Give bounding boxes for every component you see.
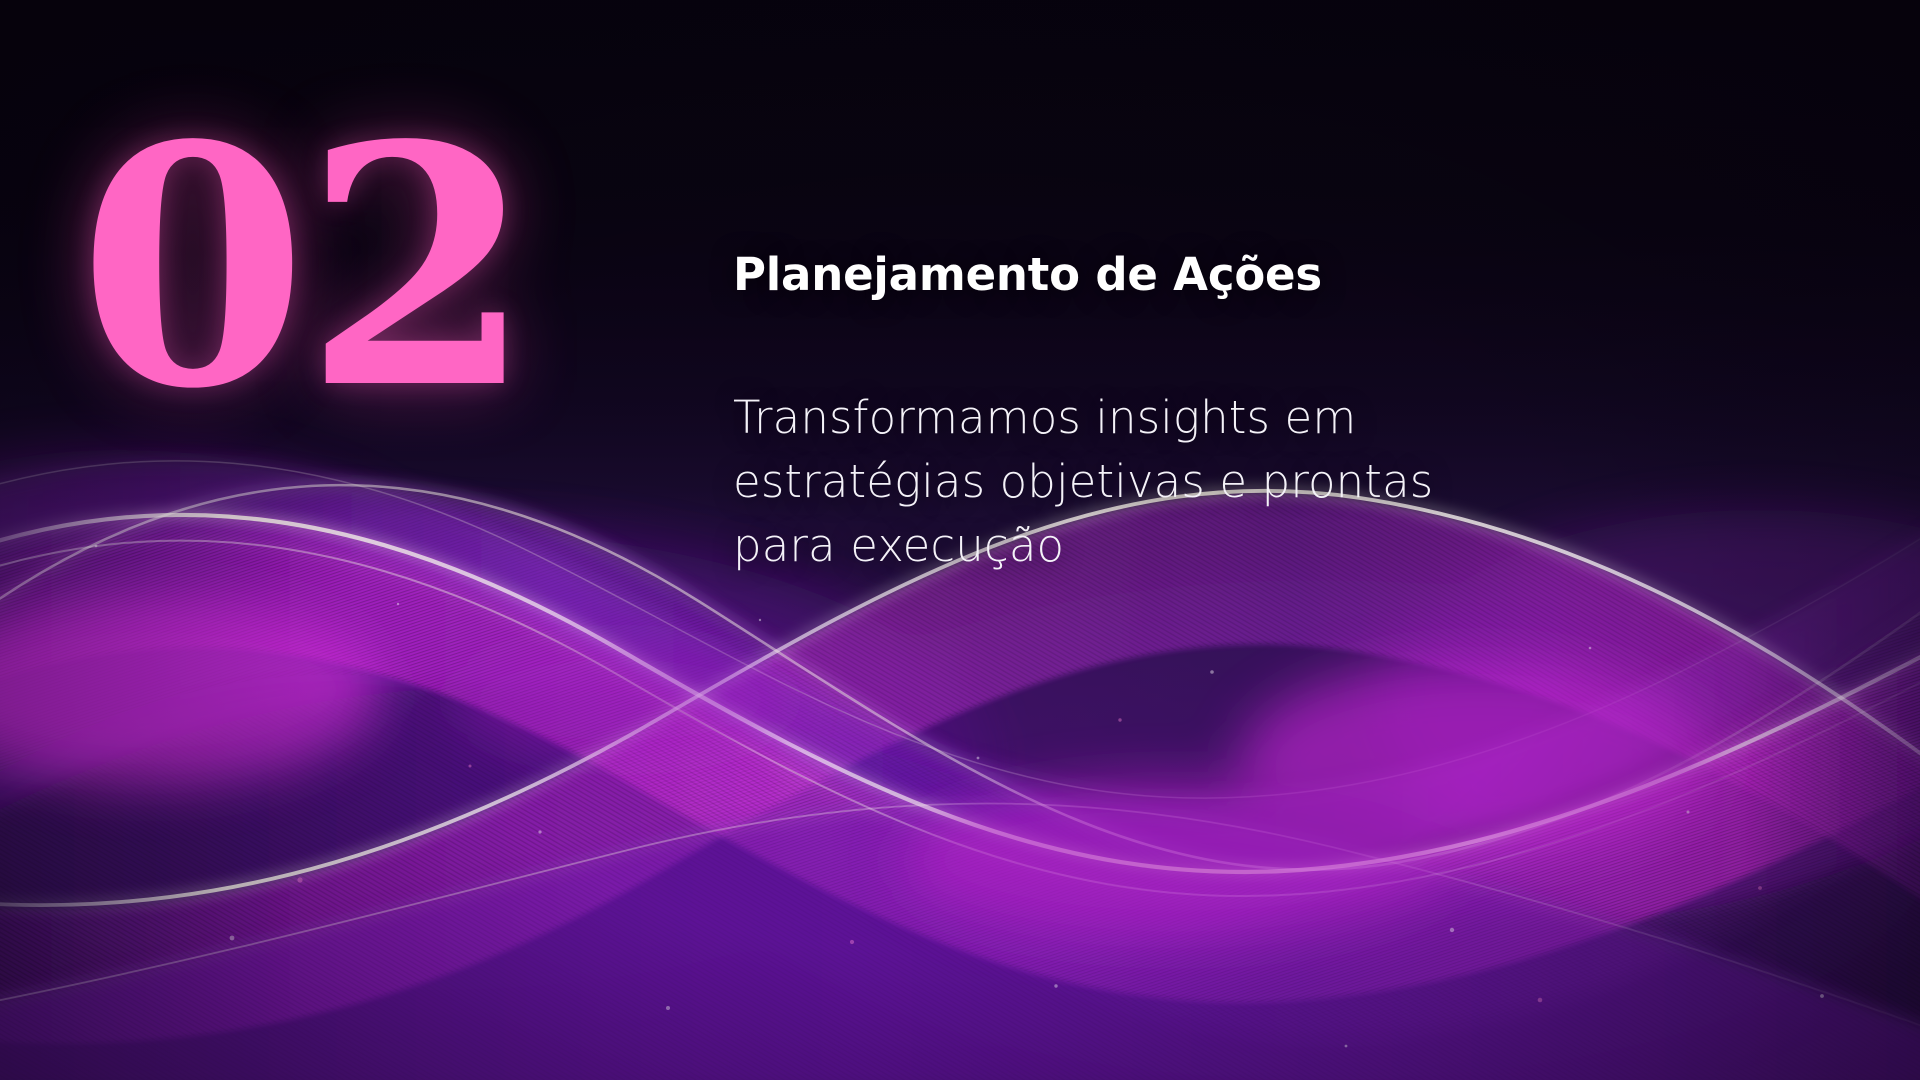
slide-body-copy: Transformamos insights em estratégias ob… (733, 386, 1733, 578)
section-number: 02 (78, 122, 508, 412)
slide-text-block: Planejamento de Ações Transformamos insi… (733, 250, 1733, 578)
slide-content: 02 Planejamento de Ações Transformamos i… (0, 0, 1920, 1080)
presentation-slide: 02 Planejamento de Ações Transformamos i… (0, 0, 1920, 1080)
body-line-1: Transformamos insights em (733, 386, 1733, 450)
body-line-2: estratégias objetivas e prontas (733, 450, 1733, 514)
section-number-block: 02 (78, 122, 508, 422)
body-line-3: para execução (733, 514, 1733, 578)
slide-headline: Planejamento de Ações (733, 250, 1733, 300)
